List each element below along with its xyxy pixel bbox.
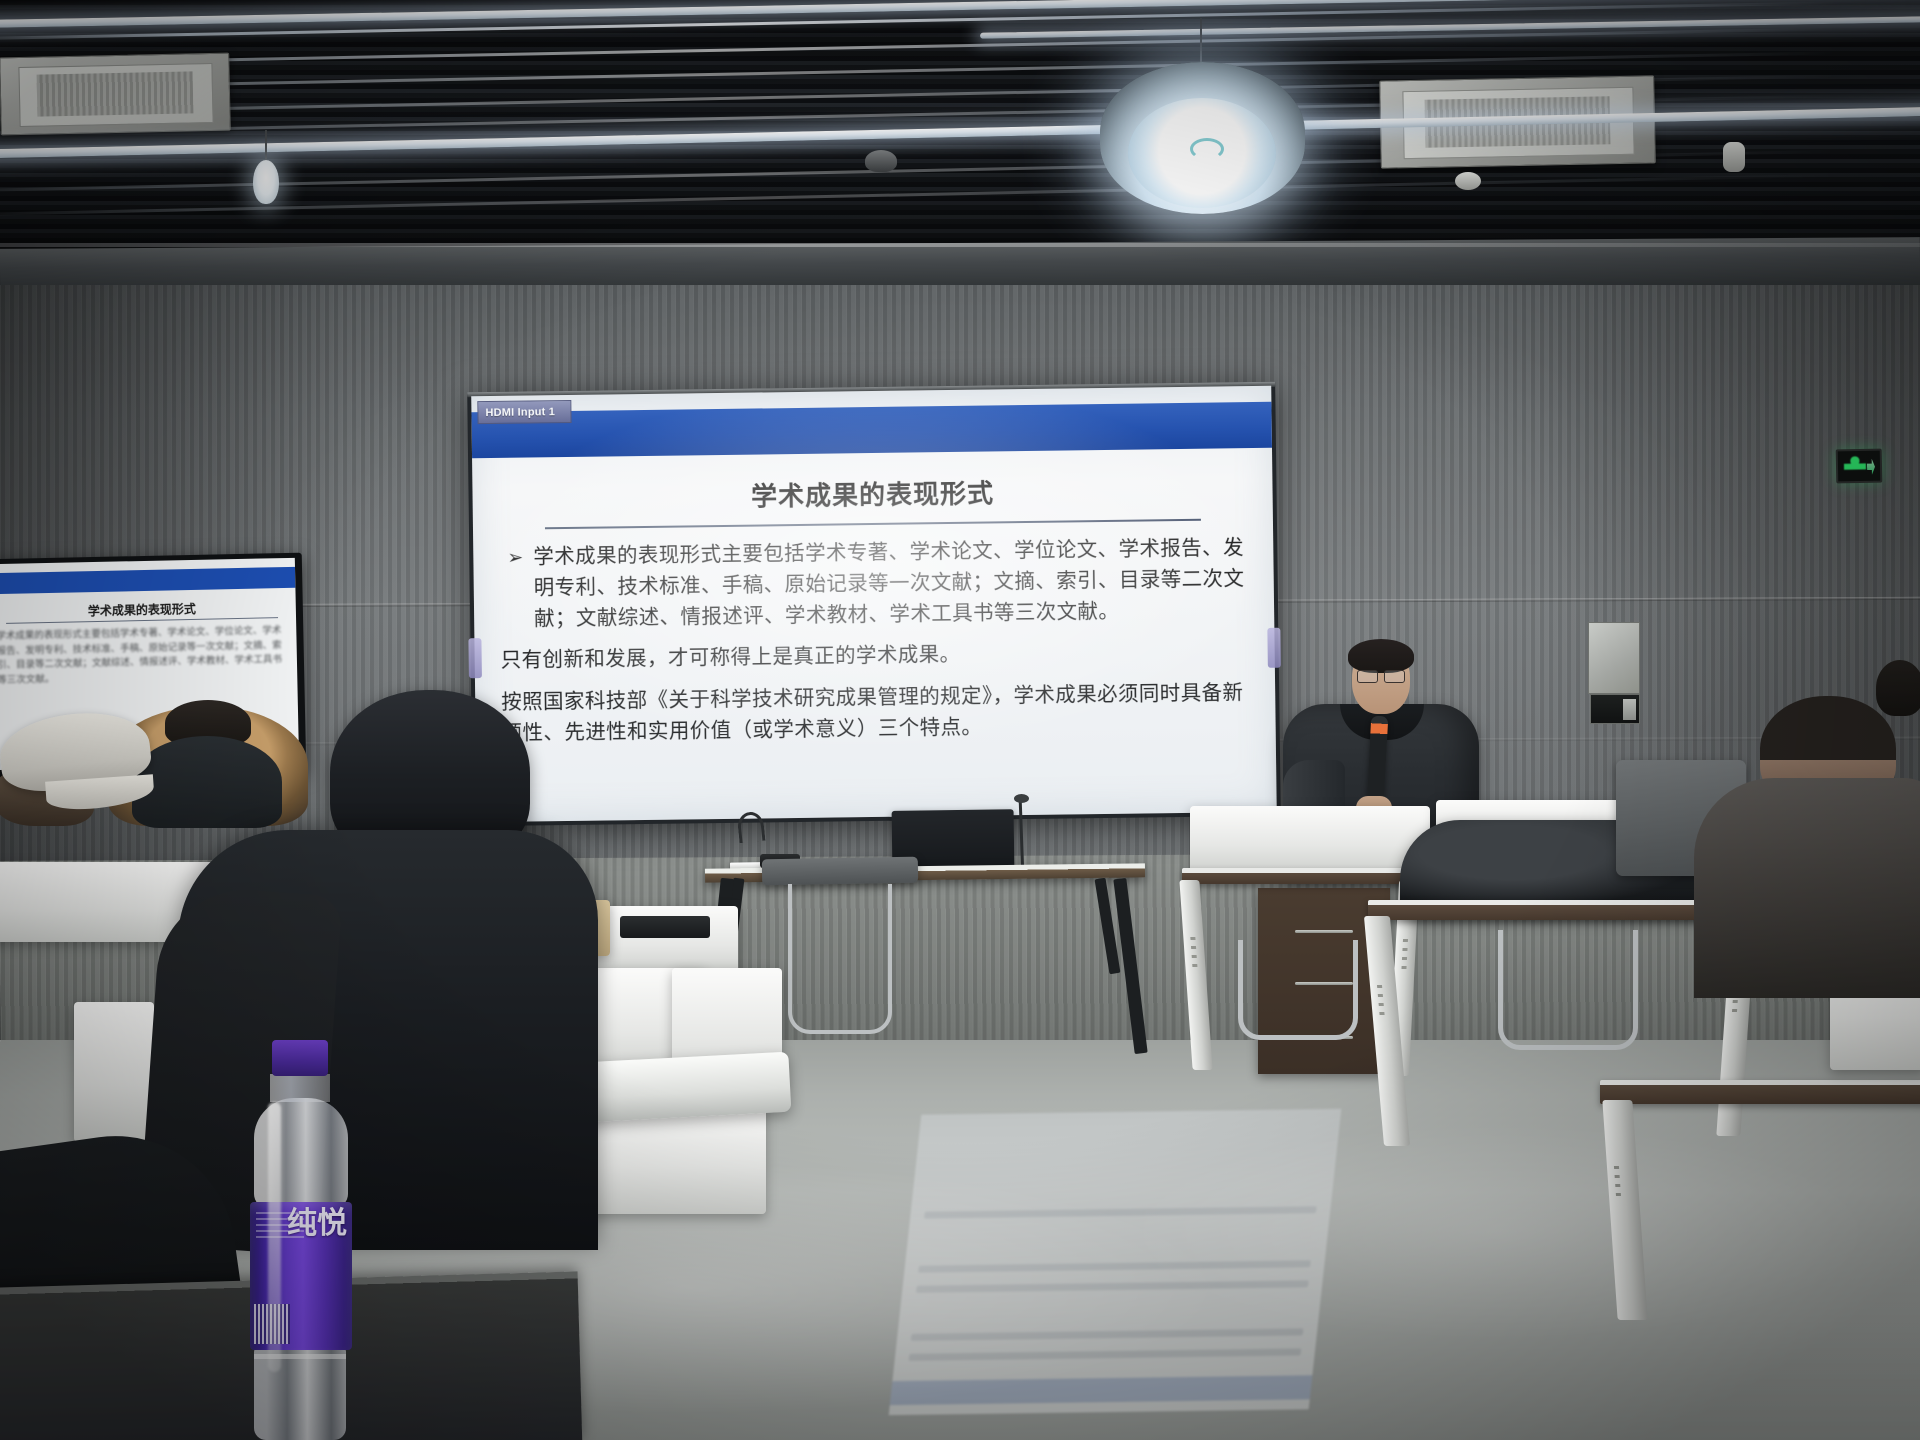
bottle-brand-label: 纯悦 [287, 1209, 347, 1240]
bullet-arrow-icon: ➢ [507, 544, 524, 573]
desk-side-panel [74, 1002, 154, 1142]
slide-title-rule [545, 519, 1201, 530]
audience-body [1694, 778, 1920, 998]
chair-frame [1498, 930, 1638, 1050]
exit-running-man-icon [1844, 456, 1866, 478]
slide-paragraph-1: ➢ 学术成果的表现形式主要包括学术专著、学术论文、学位论文、学术报告、发明专利、… [499, 532, 1248, 635]
water-bottle[interactable]: 纯悦 [240, 1040, 358, 1440]
wall-outlet-panel[interactable] [1590, 694, 1640, 724]
exit-arrow-icon [1867, 459, 1875, 475]
slide-content: 学术成果的表现形式 ➢ 学术成果的表现形式主要包括学术专著、学术论文、学位论文、… [472, 448, 1277, 822]
bottle-neck [270, 1074, 330, 1102]
screen-side-tab [468, 638, 482, 678]
ac-vent-icon [0, 53, 231, 136]
side-monitor-body: 学术成果的表现形式主要包括学术专著、学术论文、学位论文、学术报告、发明专利、技术… [0, 624, 289, 689]
ceiling-speaker-icon [865, 150, 897, 172]
cabinet-handle [1295, 930, 1353, 933]
bottle-highlight [268, 1102, 281, 1372]
audience-head [1876, 660, 1920, 716]
desk-mic-head-icon [1014, 794, 1029, 803]
hdmi-input-label: HDMI Input 1 [485, 406, 555, 419]
audience-hood-inner [132, 736, 282, 828]
presenter-hair [1348, 639, 1414, 673]
hdmi-input-badge: HDMI Input 1 [477, 400, 571, 424]
desk-object [620, 916, 710, 938]
ceiling-soffit-edge [0, 243, 1920, 247]
ceiling [0, 0, 1920, 252]
slide-paragraph-1-text: 学术成果的表现形式主要包括学术专著、学术论文、学位论文、学术报告、发明专利、技术… [533, 535, 1244, 631]
pendant-lamp-teal-ring [1190, 138, 1224, 160]
hanging-bulb-icon [253, 160, 279, 204]
screen-side-tab [1267, 628, 1281, 668]
chair-frame [1238, 940, 1358, 1040]
lecture-hall-scene: HDMI Input 1 学术成果的表现形式 ➢ 学术成果的表现形式主要包括学术… [0, 0, 1920, 1440]
side-monitor-banner [0, 567, 295, 594]
chair-frame [788, 884, 892, 1034]
glasses-icon [1357, 670, 1405, 681]
ceiling-sensor-icon [1455, 172, 1481, 190]
wall-control-panel[interactable] [1588, 622, 1640, 694]
desk-top [1600, 1080, 1920, 1104]
bulb-cord [265, 130, 267, 164]
ceiling-sensor-icon [1723, 142, 1745, 172]
bottle-cap[interactable] [272, 1040, 328, 1076]
chair-backrest[interactable] [762, 857, 918, 886]
bottle-label: 纯悦 [250, 1202, 352, 1350]
slide-paragraph-2: 只有创新和发展，才可称得上是真正的学术成果。 [501, 636, 1249, 677]
slide-title: 学术成果的表现形式 [498, 470, 1246, 517]
desk-privacy-panel [1190, 806, 1430, 872]
projection-screen[interactable]: HDMI Input 1 学术成果的表现形式 ➢ 学术成果的表现形式主要包括学术… [467, 382, 1281, 827]
screen-surface: HDMI Input 1 学术成果的表现形式 ➢ 学术成果的表现形式主要包括学术… [471, 386, 1277, 822]
slide-paragraph-3: 按照国家科技部《关于科学技术研究成果管理的规定》，学术成果必须同时具备新颖性、先… [501, 677, 1250, 749]
exit-sign [1836, 449, 1883, 484]
